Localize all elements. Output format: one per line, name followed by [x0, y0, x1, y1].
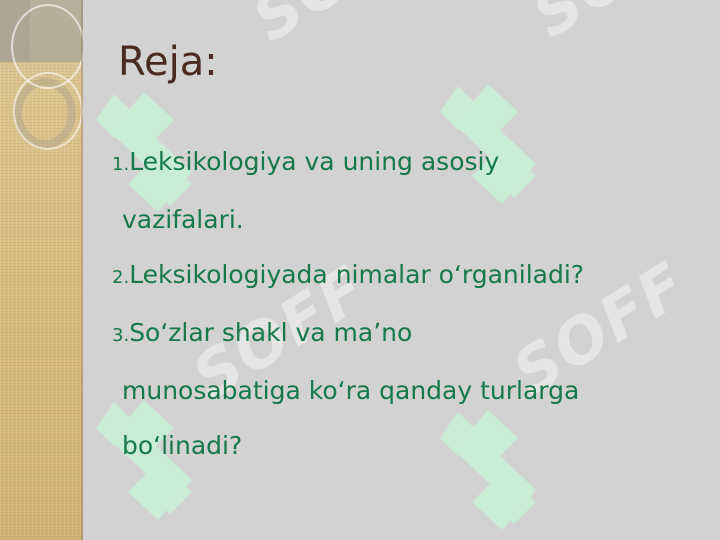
- list-item-continuation: munosabatiga koʻra qanday turlarga: [112, 363, 712, 418]
- list-item: 3.Soʻzlar shakl va maʼno: [112, 305, 712, 363]
- band-edge: [81, 0, 83, 540]
- list-item-text: Leksikologiya va uning asosiy: [129, 147, 499, 176]
- decorative-ring-lower: [13, 72, 83, 150]
- list-item-number: 1.: [112, 154, 129, 175]
- list-item: 1.Leksikologiya va uning asosiy: [112, 134, 712, 192]
- list-item-continuation: boʻlinadi?: [112, 418, 712, 473]
- list-item: 2.Leksikologiyada nimalar oʻrganiladi?: [112, 247, 712, 305]
- list-item-number: 2.: [112, 267, 129, 288]
- list-item-text: Leksikologiyada nimalar oʻrganiladi?: [129, 260, 584, 289]
- decorative-left-band: [0, 0, 83, 540]
- list-item-text: boʻlinadi?: [122, 431, 242, 460]
- list-item-continuation: vazifalari.: [112, 192, 712, 247]
- page-title: Reja:: [118, 38, 218, 86]
- agenda-list: 1.Leksikologiya va uning asosiy vazifala…: [112, 134, 712, 473]
- list-item-number: 3.: [112, 325, 129, 346]
- list-item-text: munosabatiga koʻra qanday turlarga: [122, 376, 579, 405]
- list-item-text: vazifalari.: [122, 205, 244, 234]
- slide-content: Reja: 1.Leksikologiya va uning asosiy va…: [112, 0, 712, 540]
- slide-canvas: SOFF SOFF SOFF SOFF: [0, 0, 720, 540]
- list-item-text: Soʻzlar shakl va maʼno: [129, 318, 412, 347]
